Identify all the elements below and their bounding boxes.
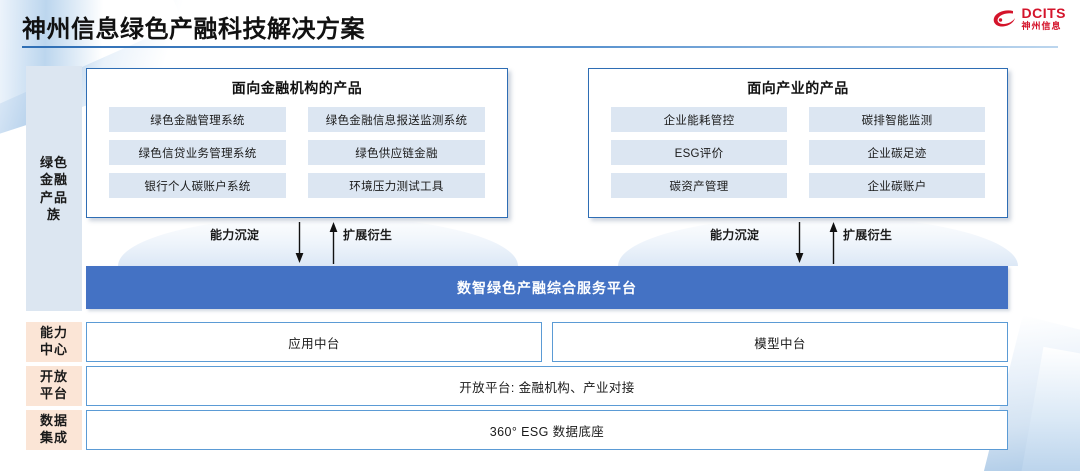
rail-line: 绿色 xyxy=(40,154,68,171)
product-item[interactable]: 碳资产管理 xyxy=(611,173,787,198)
sidebar-item-green-finance-family: 绿色 金融 产品 族 xyxy=(26,66,82,311)
arrow-up-icon xyxy=(327,222,340,264)
logo-text-cn: 神州信息 xyxy=(1022,22,1067,31)
platform-bar-label: 数智绿色产融综合服务平台 xyxy=(457,278,637,298)
capability-box-model-middle-platform[interactable]: 模型中台 xyxy=(552,322,1008,362)
page-title: 神州信息绿色产融科技解决方案 xyxy=(22,9,365,44)
panel-title-industry: 面向产业的产品 xyxy=(589,78,1007,98)
connector-label-expansion-derivation: 扩展衍生 xyxy=(343,226,392,243)
rail-line: 数据 xyxy=(40,413,68,430)
product-item[interactable]: ESG评价 xyxy=(611,140,787,165)
rail-line: 开放 xyxy=(40,369,68,386)
sidebar-item-open-platform: 开放 平台 xyxy=(26,366,82,406)
rail-line: 金融 xyxy=(40,171,68,188)
product-item[interactable]: 绿色金融信息报送监测系统 xyxy=(308,107,485,132)
rail-line: 平台 xyxy=(40,386,68,403)
arrow-up-icon xyxy=(827,222,840,264)
product-item[interactable]: 碳排智能监测 xyxy=(809,107,985,132)
row-data-integration: 360° ESG 数据底座 xyxy=(86,410,1008,450)
platform-bar[interactable]: 数智绿色产融综合服务平台 xyxy=(86,266,1008,309)
title-divider xyxy=(22,46,1058,48)
decorative-shape-bottom-right-secondary xyxy=(1017,347,1080,471)
panel-title-financial: 面向金融机构的产品 xyxy=(87,78,507,98)
panel-grid-industry: 企业能耗管控 碳排智能监测 ESG评价 企业碳足迹 碳资产管理 企业碳账户 xyxy=(589,98,1007,198)
rail-line: 族 xyxy=(40,206,68,223)
sidebar-label-data-integration: 数据 集成 xyxy=(40,413,68,447)
logo-text-en: DCITS xyxy=(1022,6,1067,20)
slide-root: 神州信息绿色产融科技解决方案 DCITS 神州信息 绿色 金融 产品 族 xyxy=(0,0,1080,471)
sidebar-item-data-integration: 数据 集成 xyxy=(26,410,82,450)
brand-logo: DCITS 神州信息 xyxy=(991,6,1067,31)
capability-box-application-middle-platform[interactable]: 应用中台 xyxy=(86,322,542,362)
product-item[interactable]: 环境压力测试工具 xyxy=(308,173,485,198)
arrow-down-icon xyxy=(793,222,806,264)
slide-header: 神州信息绿色产融科技解决方案 DCITS 神州信息 xyxy=(0,0,1080,52)
rail-line: 能力 xyxy=(40,325,68,342)
product-item[interactable]: 企业能耗管控 xyxy=(611,107,787,132)
sidebar-label-capability-center: 能力 中心 xyxy=(40,325,68,359)
rail-line: 中心 xyxy=(40,342,68,359)
open-platform-box[interactable]: 开放平台: 金融机构、产业对接 xyxy=(86,366,1008,406)
product-item[interactable]: 企业碳账户 xyxy=(809,173,985,198)
product-item[interactable]: 银行个人碳账户系统 xyxy=(109,173,286,198)
connector-group-right: 能力沉淀 扩展衍生 xyxy=(695,222,945,268)
rail-line: 产品 xyxy=(40,189,68,206)
sidebar-item-capability-center: 能力 中心 xyxy=(26,322,82,362)
row-capability-center: 应用中台 模型中台 xyxy=(86,322,1008,362)
panel-industry-products: 面向产业的产品 企业能耗管控 碳排智能监测 ESG评价 企业碳足迹 碳资产管理 … xyxy=(588,68,1008,218)
dcits-swirl-logo-icon xyxy=(991,8,1017,30)
row-open-platform: 开放平台: 金融机构、产业对接 xyxy=(86,366,1008,406)
panel-grid-financial: 绿色金融管理系统 绿色金融信息报送监测系统 绿色信贷业务管理系统 绿色供应链金融… xyxy=(87,98,507,198)
panel-financial-institution-products: 面向金融机构的产品 绿色金融管理系统 绿色金融信息报送监测系统 绿色信贷业务管理… xyxy=(86,68,508,218)
rail-line: 集成 xyxy=(40,430,68,447)
logo-text-block: DCITS 神州信息 xyxy=(1022,6,1067,31)
connector-label-capability-precipitation: 能力沉淀 xyxy=(210,226,259,243)
connector-label-capability-precipitation: 能力沉淀 xyxy=(710,226,759,243)
sidebar-label-green-finance-family: 绿色 金融 产品 族 xyxy=(40,154,68,223)
sidebar-label-open-platform: 开放 平台 xyxy=(40,369,68,403)
product-item[interactable]: 绿色信贷业务管理系统 xyxy=(109,140,286,165)
connector-label-expansion-derivation: 扩展衍生 xyxy=(843,226,892,243)
product-item[interactable]: 绿色金融管理系统 xyxy=(109,107,286,132)
product-item[interactable]: 企业碳足迹 xyxy=(809,140,985,165)
product-item[interactable]: 绿色供应链金融 xyxy=(308,140,485,165)
arrow-down-icon xyxy=(293,222,306,264)
data-base-box[interactable]: 360° ESG 数据底座 xyxy=(86,410,1008,450)
connector-group-left: 能力沉淀 扩展衍生 xyxy=(195,222,445,268)
